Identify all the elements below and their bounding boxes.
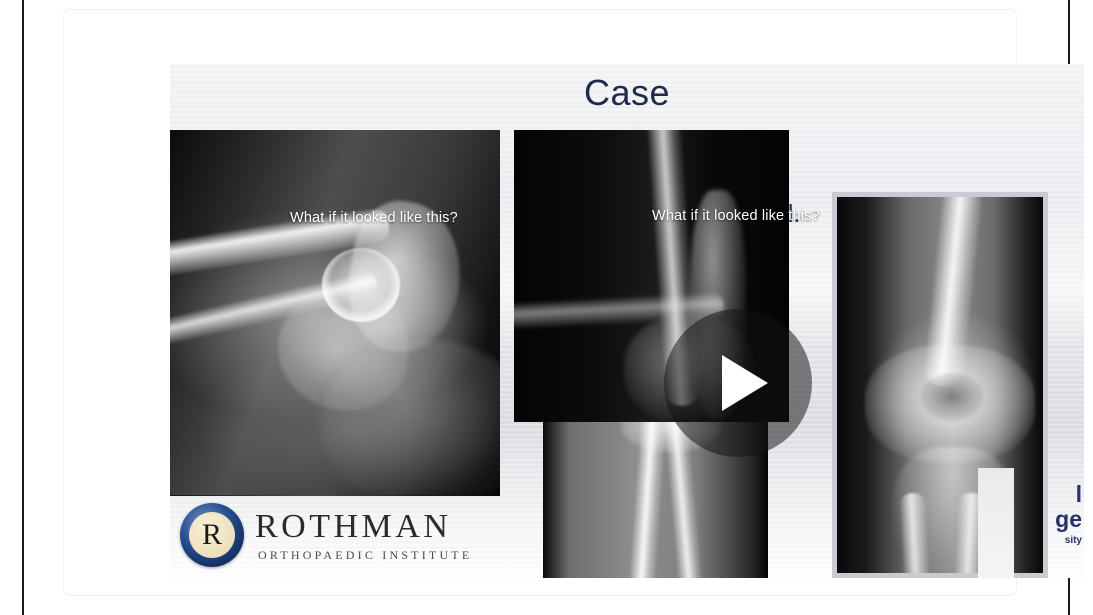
olecranon-fossa	[921, 373, 983, 421]
page-left-rule	[22, 0, 24, 615]
page-title: Case	[170, 72, 1084, 114]
rothman-logo: R ROTHMAN ORTHOPAEDIC INSTITUTE	[180, 496, 520, 574]
logo-emblem-letter: R	[202, 520, 222, 550]
affiliation-occluder	[978, 468, 1014, 578]
screenshot-viewport: Case y pain after a fall.	[0, 0, 1093, 615]
logo-tagline: ORTHOPAEDIC INSTITUTE	[258, 549, 472, 561]
lateral-elbow-xray-image	[170, 130, 500, 495]
affiliation-line-3: sity	[1012, 534, 1082, 547]
affiliation-text: l ge sity	[1012, 482, 1082, 547]
capitellum	[322, 248, 400, 322]
affiliation-line-1: l	[1012, 482, 1082, 507]
logo-text-block: ROTHMAN ORTHOPAEDIC INSTITUTE	[255, 510, 472, 561]
content-card: Case y pain after a fall.	[64, 10, 1016, 595]
play-button[interactable]	[664, 309, 812, 457]
affiliation-line-2: ge	[1012, 507, 1082, 532]
logo-emblem-icon: R	[180, 503, 244, 567]
caption-overlay: What if it looked like this?	[652, 208, 820, 224]
play-triangle-icon	[722, 355, 768, 411]
caption-left: What if it looked like this?	[290, 210, 458, 226]
logo-wordmark: ROTHMAN	[255, 510, 472, 544]
video-slide-frame[interactable]: Case y pain after a fall.	[170, 64, 1084, 578]
